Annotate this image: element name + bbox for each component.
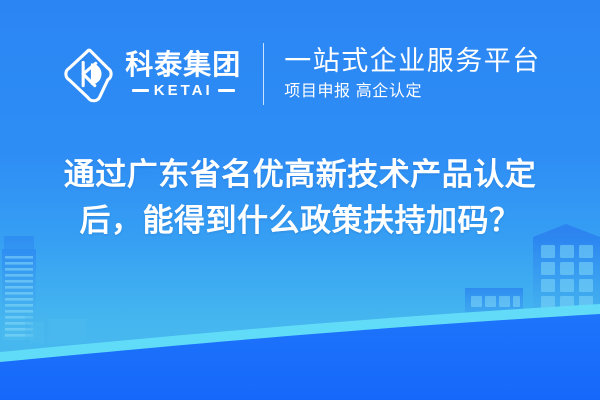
- header-divider: [263, 43, 264, 105]
- logo-company-en: KETAI: [154, 83, 213, 98]
- tagline-sub: 项目申报 高企认定: [284, 82, 541, 103]
- page-title-line-2: 后，能得到什么政策扶持加码？: [36, 198, 564, 244]
- ketai-diamond-monogram-icon: [59, 45, 117, 103]
- logo-dash-left-icon: [132, 89, 149, 92]
- page-title-line-1: 通过广东省名优高新技术产品认定: [36, 152, 564, 198]
- logo-company-cn: 科泰集团: [125, 50, 241, 79]
- logo-block[interactable]: 科泰集团 KETAI: [59, 45, 241, 103]
- logo-company-en-row: KETAI: [132, 83, 235, 98]
- tagline-main: 一站式企业服务平台: [284, 46, 541, 77]
- brand-header: 科泰集团 KETAI 一站式企业服务平台 项目申报 高企认定: [0, 36, 600, 112]
- tagline-block: 一站式企业服务平台 项目申报 高企认定: [284, 46, 541, 103]
- page-title: 通过广东省名优高新技术产品认定 后，能得到什么政策扶持加码？: [0, 152, 600, 244]
- banner-image: 科泰集团 KETAI 一站式企业服务平台 项目申报 高企认定 通过广东省名优高新…: [0, 0, 600, 400]
- logo-dash-right-icon: [218, 89, 235, 92]
- logo-wordmark: 科泰集团 KETAI: [125, 50, 241, 97]
